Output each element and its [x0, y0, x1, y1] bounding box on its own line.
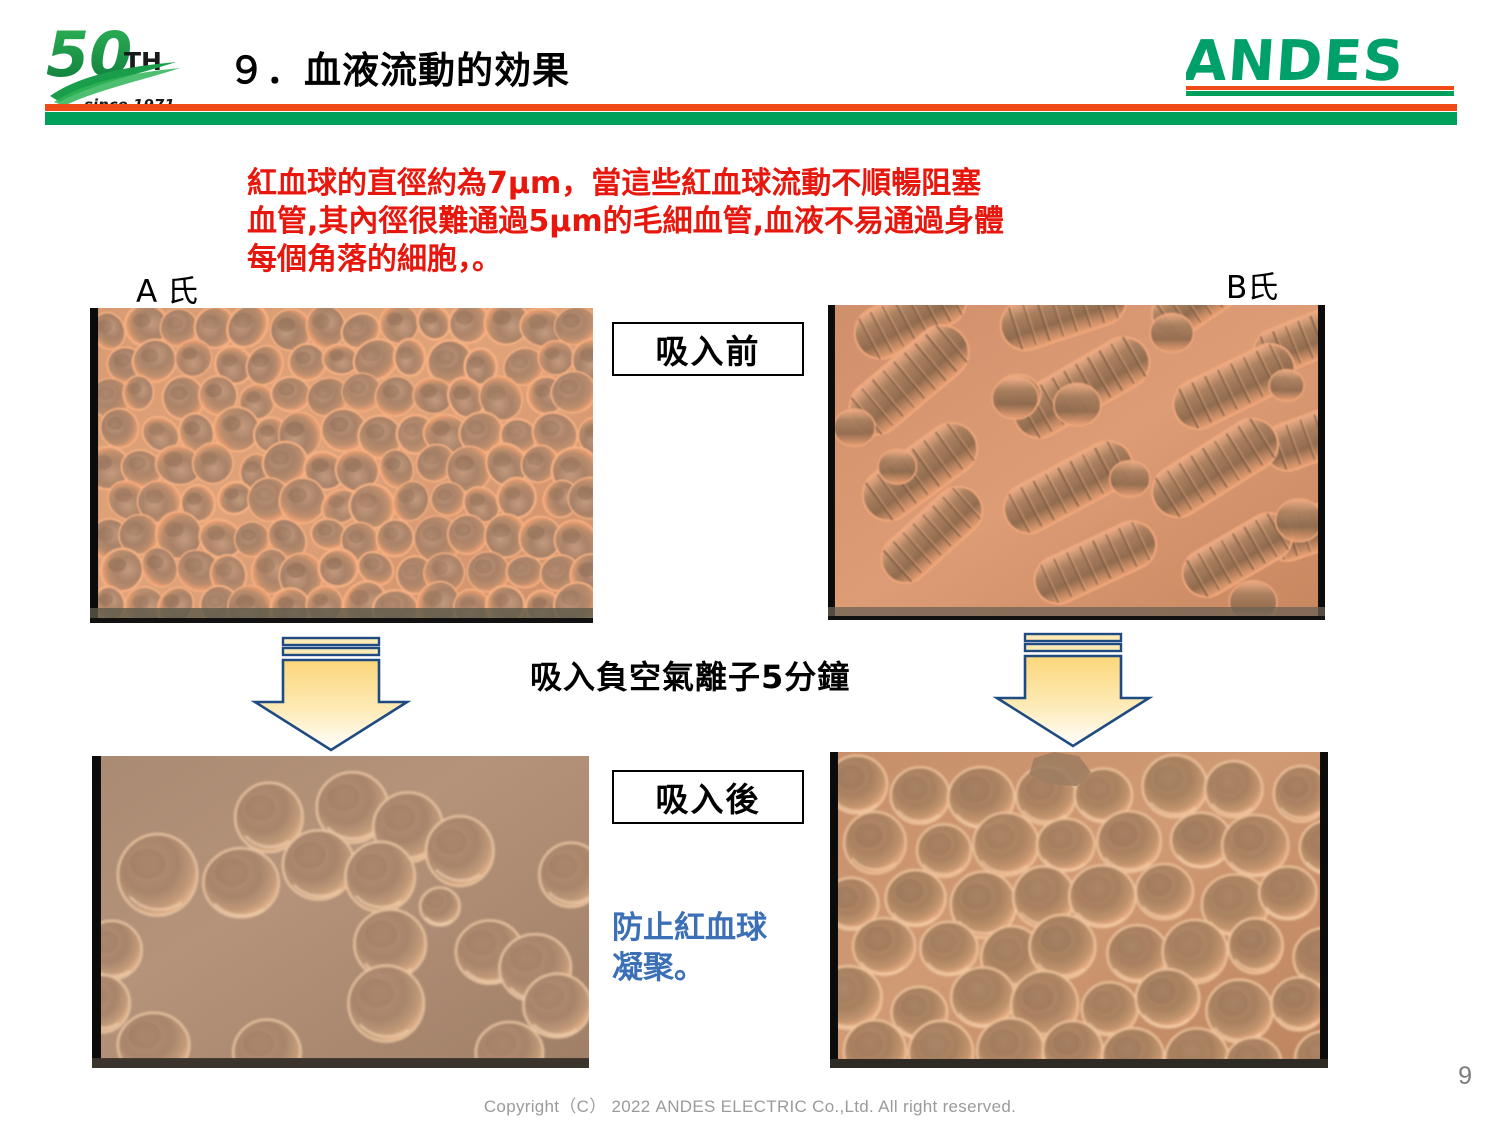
slide-header: 50 TH since 1971 ９．血液流動的効果 ANDES — [0, 0, 1500, 125]
footer-copyright: Copyright（C） 2022 ANDES ELECTRIC Co.,Ltd… — [0, 1092, 1500, 1117]
page-title: ９．血液流動的効果 — [228, 40, 570, 94]
subject-label-a: A 氏 — [136, 266, 198, 311]
micrograph-b-before — [828, 305, 1325, 620]
lead-line-2: 血管,其內徑很難通過5μm的毛細血管,血液不易通過身體 — [247, 203, 1227, 241]
micrograph-b-after — [830, 752, 1328, 1068]
blue-note-line-2: 凝聚。 — [612, 948, 817, 988]
stage-box-before-label: 吸入前 — [656, 325, 761, 373]
anniversary-50th-logo: 50 TH since 1971 — [44, 22, 194, 112]
svg-text:ANDES: ANDES — [1186, 30, 1406, 94]
page-number: 9 — [1458, 1062, 1472, 1091]
lead-paragraph: 紅血球的直徑約為7μm，當這些紅血球流動不順暢阻塞 血管,其內徑很難通過5μm的… — [247, 165, 1227, 279]
stage-box-after-label: 吸入後 — [656, 773, 761, 821]
micrograph-a-before — [90, 308, 593, 623]
blue-note-line-1: 防止紅血球 — [612, 908, 817, 948]
middle-caption: 吸入負空氣離子5分鐘 — [530, 652, 850, 698]
down-arrow-right — [990, 630, 1156, 748]
stage-box-after: 吸入後 — [612, 770, 804, 824]
andes-brand-logo: ANDES — [1186, 30, 1454, 96]
stage-box-before: 吸入前 — [612, 322, 804, 376]
down-arrow-left — [248, 634, 414, 752]
subject-label-b: B氏 — [1226, 262, 1278, 307]
lead-line-1: 紅血球的直徑約為7μm，當這些紅血球流動不順暢阻塞 — [247, 165, 1227, 203]
header-rule-green — [45, 112, 1457, 125]
blue-note: 防止紅血球 凝聚。 — [612, 908, 817, 988]
lead-line-3: 每個角落的細胞，。 — [247, 241, 1227, 279]
micrograph-a-after — [92, 756, 589, 1068]
header-rule-orange — [45, 104, 1457, 111]
